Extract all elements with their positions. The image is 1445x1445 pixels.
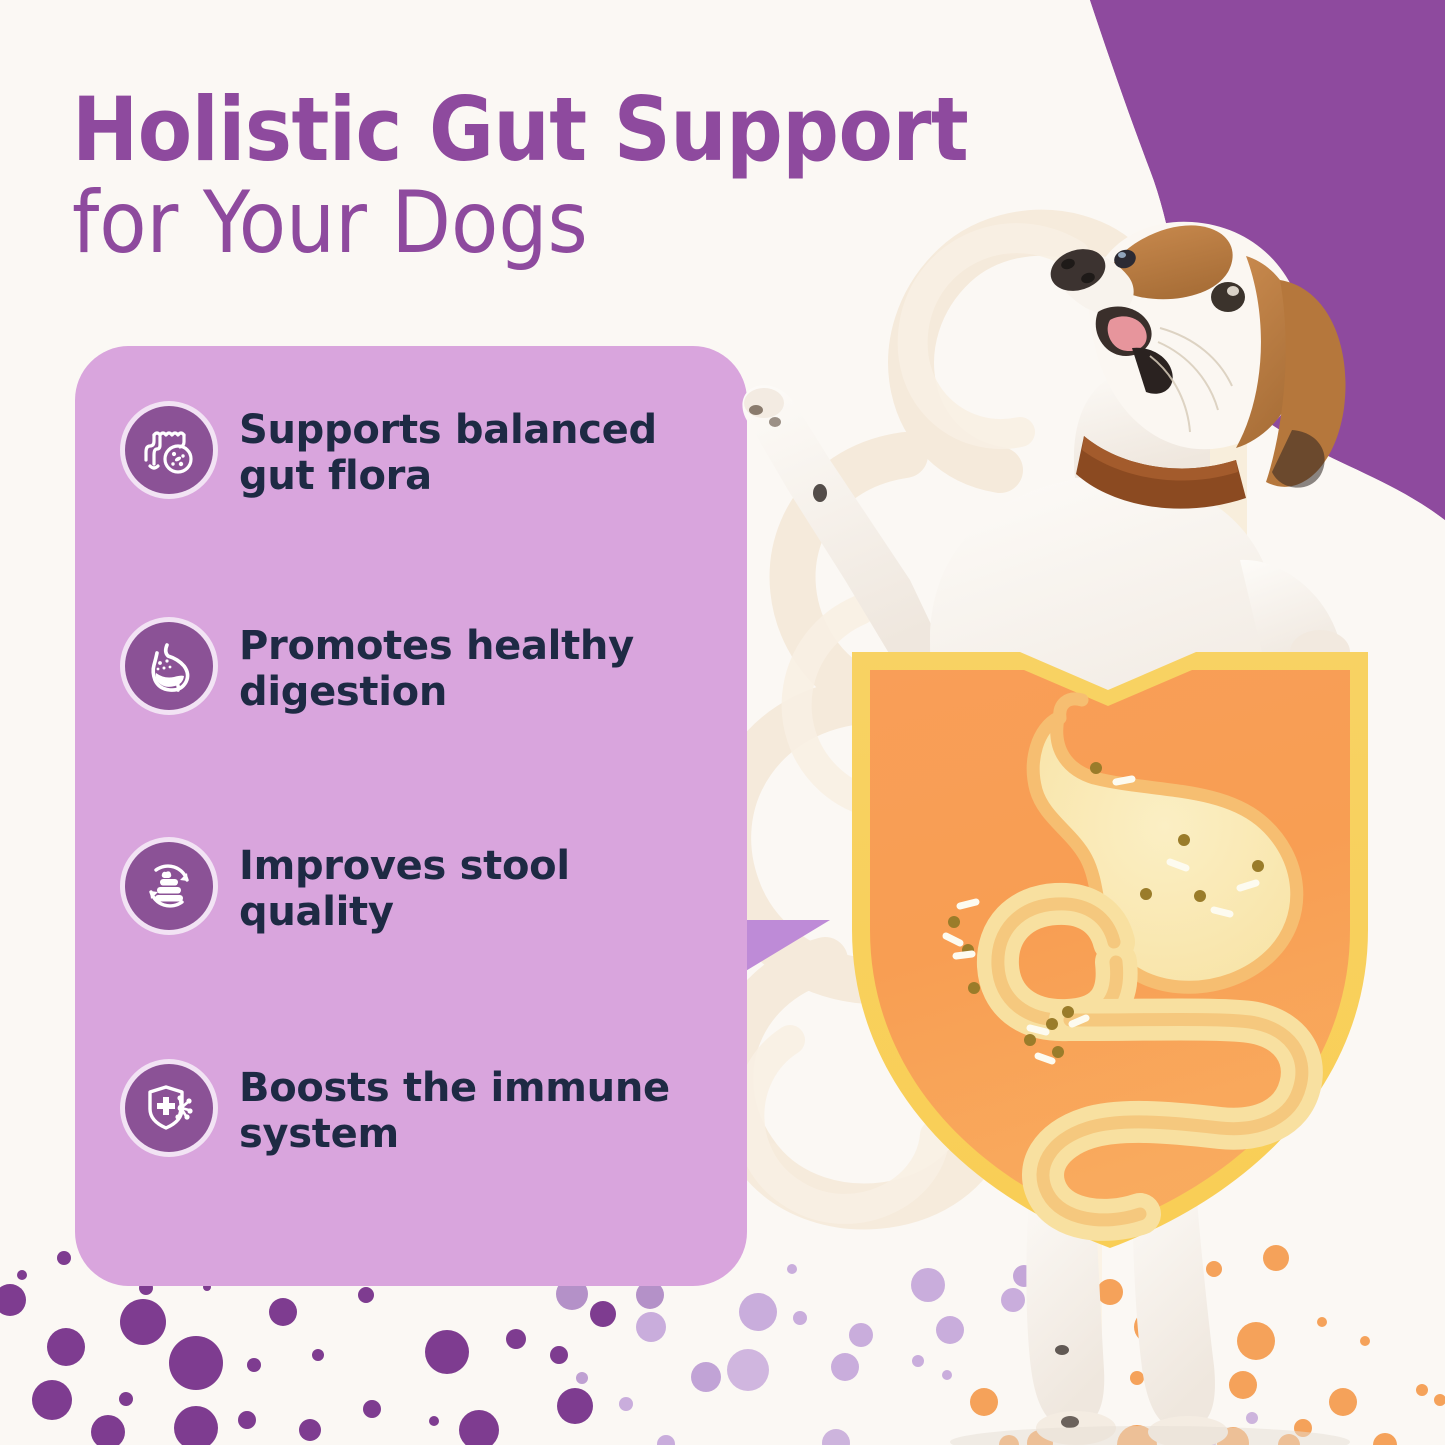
headline-line-2: for Your Dogs [72,172,1192,269]
digestive-shield-icon [820,600,1400,1260]
list-item-label: Supports balanced gut flora [239,406,709,499]
stool-refresh-icon [125,842,213,930]
list-item-label: Promotes healthy digestion [239,622,709,715]
stomach-icon [125,622,213,710]
list-item[interactable]: Boosts the immune system [125,1064,737,1157]
benefits-list: Supports balanced gut flora [75,346,747,1286]
list-item[interactable]: Improves stool quality [125,842,737,935]
list-item[interactable]: Promotes healthy digestion [125,622,737,715]
list-item-label: Improves stool quality [239,842,709,935]
intestine-bacteria-icon [125,406,213,494]
page-title: Holistic Gut Support for Your Dogs [72,88,1192,270]
list-item-label: Boosts the immune system [239,1064,709,1157]
headline-line-1: Holistic Gut Support [72,88,1192,172]
infographic-canvas: Holistic Gut Support for Your Dogs [0,0,1445,1445]
benefits-panel: Supports balanced gut flora [75,346,747,1286]
shield-plus-virus-icon [125,1064,213,1152]
list-item[interactable]: Supports balanced gut flora [125,406,737,499]
